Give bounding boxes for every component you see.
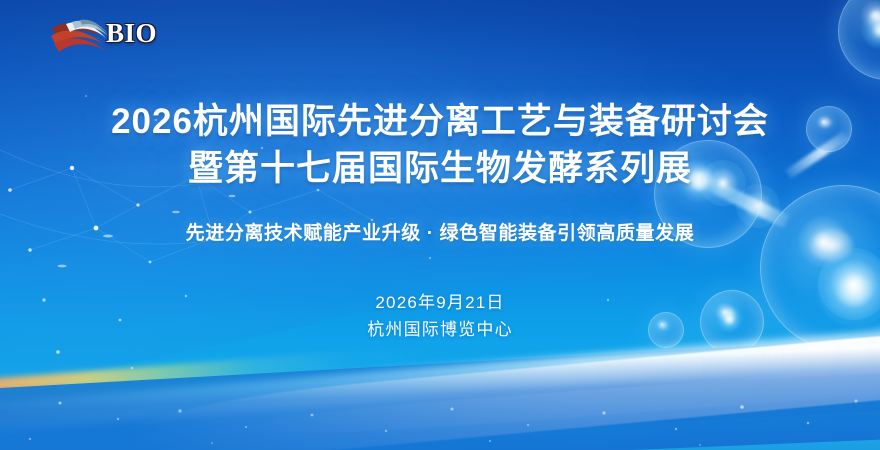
foot-band (0, 344, 880, 450)
warm-gradient-band (0, 340, 493, 428)
title-line-2: 暨第十七届国际生物发酵系列展 (0, 145, 880, 192)
event-date: 2026年9月21日 (0, 289, 880, 316)
title-line-1: 2026杭州国际先进分离工艺与装备研讨会 (0, 98, 880, 145)
white-swoosh-thin (247, 350, 880, 440)
title-block: 2026杭州国际先进分离工艺与装备研讨会 暨第十七届国际生物发酵系列展 (0, 98, 880, 192)
blue-band (0, 330, 880, 450)
event-banner: BIO 2026杭州国际先进分离工艺与装备研讨会 暨第十七届国际生物发酵系列展 … (0, 0, 880, 450)
banner-subtitle: 先进分离技术赋能产业升级 · 绿色智能装备引领高质量发展 (0, 218, 880, 245)
event-meta-block: 2026年9月21日 杭州国际博览中心 (0, 289, 880, 343)
event-venue: 杭州国际博览中心 (0, 316, 880, 343)
banner-content: 2026杭州国际先进分离工艺与装备研讨会 暨第十七届国际生物发酵系列展 先进分离… (0, 0, 880, 343)
